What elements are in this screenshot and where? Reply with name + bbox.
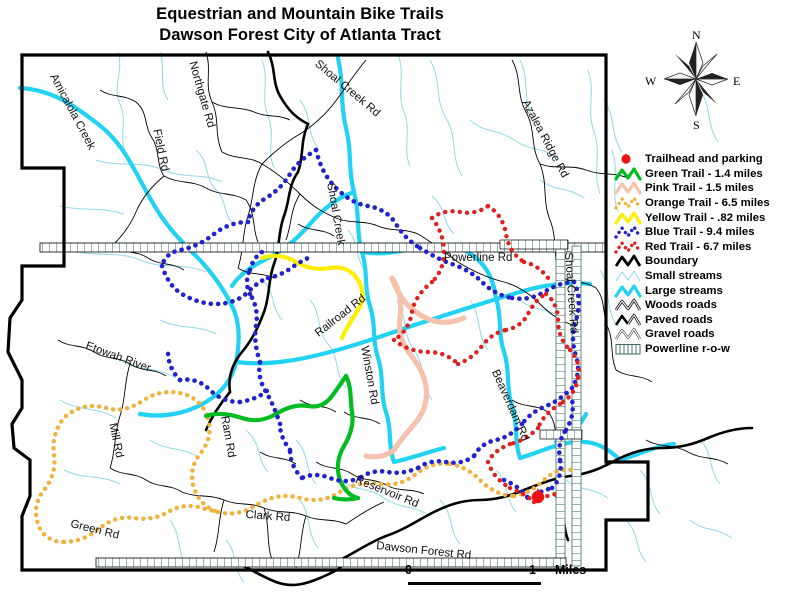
legend-label: Small streams <box>645 270 722 282</box>
yellow-trail-layer <box>262 256 363 338</box>
legend-label: Blue Trail - 9.4 miles <box>645 226 755 238</box>
compass-star-icon <box>663 40 729 118</box>
compass-south-label: S <box>693 118 700 133</box>
legend-label: Trailhead and parking <box>645 153 763 165</box>
legend-row: Trailhead and parking <box>614 152 789 167</box>
legend-label: Large streams <box>645 285 723 297</box>
legend-row: Small streams <box>614 269 789 284</box>
scale-bar: 0 1 Miles <box>405 563 645 603</box>
legend-label: Powerline r-o-w <box>645 343 730 355</box>
scale-bar-line <box>408 582 541 585</box>
legend-symbol-zigzag-solid-icon <box>614 167 645 181</box>
legend-row: Woods roads <box>614 298 789 313</box>
legend-row: Pink Trail - 1.5 miles <box>614 181 789 196</box>
legend-label: Orange Trail - 6.5 miles <box>645 197 770 209</box>
map-label: Powerline Rd <box>444 252 512 264</box>
legend-row: Large streams <box>614 283 789 298</box>
scale-zero-label: 0 <box>405 563 412 577</box>
legend-label: Gravel roads <box>645 328 715 340</box>
legend-symbol-zigzag-thick-icon <box>614 254 645 268</box>
compass-east-label: E <box>733 74 740 89</box>
legend-row: Orange Trail - 6.5 miles <box>614 196 789 211</box>
legend-symbol-zigzag-double-icon <box>614 298 645 312</box>
legend-row: Yellow Trail - .82 miles <box>614 210 789 225</box>
legend-symbol-zigzag-solid-icon <box>614 284 645 298</box>
legend-label: Yellow Trail - .82 miles <box>645 212 765 224</box>
legend-label: Green Trail - 1.4 miles <box>645 168 763 180</box>
legend-symbol-zigzag-dotted-icon <box>614 196 645 210</box>
scale-one-label: 1 <box>529 563 536 577</box>
map-page: Equestrian and Mountain Bike Trails Daws… <box>0 0 789 615</box>
legend-symbol-zigzag-thin-icon <box>614 269 645 283</box>
compass-north-label: N <box>692 28 701 43</box>
legend-symbol-hatch-box-icon <box>614 342 645 356</box>
legend-symbol-zigzag-solid-icon <box>614 211 645 225</box>
legend-row: Powerline r-o-w <box>614 342 789 357</box>
legend-symbol-zigzag-dotted-icon <box>614 225 645 239</box>
legend-symbol-marker-dot-icon <box>614 152 645 166</box>
compass-west-label: W <box>645 74 656 89</box>
legend-row: Red Trail - 6.7 miles <box>614 240 789 255</box>
legend-row: Boundary <box>614 254 789 269</box>
legend-symbol-zigzag-dotted-icon <box>614 240 645 254</box>
legend-label: Paved roads <box>645 314 713 326</box>
map-legend: Trailhead and parkingGreen Trail - 1.4 m… <box>614 152 789 356</box>
legend-row: Paved roads <box>614 313 789 328</box>
legend-symbol-zigzag-gravel-icon <box>614 327 645 341</box>
legend-label: Woods roads <box>645 299 717 311</box>
legend-row: Blue Trail - 9.4 miles <box>614 225 789 240</box>
legend-label: Red Trail - 6.7 miles <box>645 241 751 253</box>
legend-label: Pink Trail - 1.5 miles <box>645 182 754 194</box>
legend-row: Gravel roads <box>614 327 789 342</box>
legend-symbol-zigzag-paved-icon <box>614 313 645 327</box>
legend-label: Boundary <box>645 255 698 267</box>
scale-unit-label: Miles <box>555 563 586 577</box>
legend-symbol-zigzag-solid-icon <box>614 181 645 195</box>
compass-rose: N S W E <box>645 18 745 138</box>
legend-row: Green Trail - 1.4 miles <box>614 167 789 182</box>
